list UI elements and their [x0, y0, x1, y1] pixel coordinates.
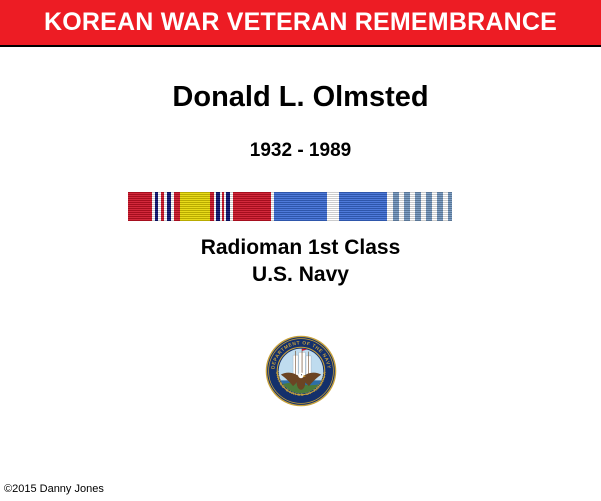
american-campaign-style-ribbon [128, 192, 180, 221]
korean-service-style-ribbon [274, 192, 333, 221]
wwii-victory-style-ribbon [180, 192, 224, 221]
ribbon-stripe [339, 192, 387, 221]
memorial-card: Donald L. Olmsted 1932 - 1989 Radioman 1… [0, 47, 601, 501]
footer-copyright: ©2015 Danny Jones [4, 483, 104, 495]
ribbon-stripe [274, 192, 327, 221]
korean-war-service-medal-style-ribbon [393, 192, 452, 221]
ribbon-stripe [128, 192, 152, 221]
page-header-banner: KOREAN WAR VETERAN REMEMBRANCE [0, 0, 601, 47]
service-seal-container: DEPARTMENT OF THE NAVY UNITED STATES OF … [0, 335, 601, 407]
veteran-rank: Radioman 1st Class [0, 235, 601, 262]
department-of-the-navy-seal-icon: DEPARTMENT OF THE NAVY UNITED STATES OF … [265, 335, 337, 407]
navy-good-conduct-style-ribbon [224, 192, 274, 221]
veteran-name: Donald L. Olmsted [0, 82, 601, 112]
service-details: Radioman 1st Class U.S. Navy [0, 235, 601, 289]
service-ribbon-bar [128, 192, 452, 221]
ribbon-stripe [233, 192, 271, 221]
un-korea-service-style-ribbon [333, 192, 393, 221]
veteran-branch: U.S. Navy [0, 262, 601, 289]
veteran-life-dates: 1932 - 1989 [0, 141, 601, 161]
ribbon-stripe [180, 192, 210, 221]
banner-title: KOREAN WAR VETERAN REMEMBRANCE [44, 10, 557, 35]
ribbon-stripe [448, 192, 452, 221]
